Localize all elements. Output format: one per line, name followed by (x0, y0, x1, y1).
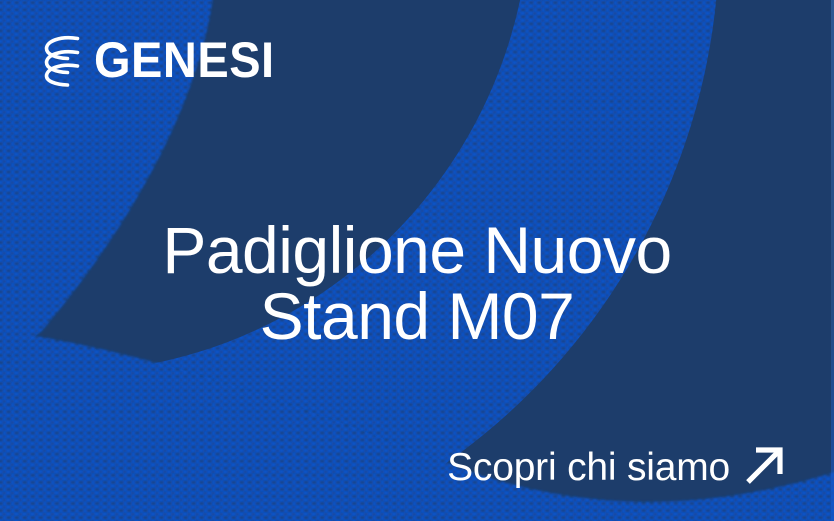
arrow-up-right-icon (744, 444, 786, 486)
page-title: Padiglione Nuovo Stand M07 (0, 218, 834, 349)
headline-line-1: Padiglione Nuovo (0, 218, 834, 283)
cta-label: Scopri chi siamo (447, 448, 730, 487)
headline-line-2: Stand M07 (0, 284, 834, 349)
banner-content: GENESI Padiglione Nuovo Stand M07 Scopri… (0, 0, 834, 521)
genesi-spiral-arcs-icon (36, 28, 96, 88)
genesi-logo[interactable]: GENESI (36, 27, 275, 89)
genesi-promo-banner: GENESI Padiglione Nuovo Stand M07 Scopri… (0, 0, 834, 521)
discover-more-link[interactable]: Scopri chi siamo (447, 444, 786, 490)
genesi-wordmark: GENESI (94, 34, 275, 84)
